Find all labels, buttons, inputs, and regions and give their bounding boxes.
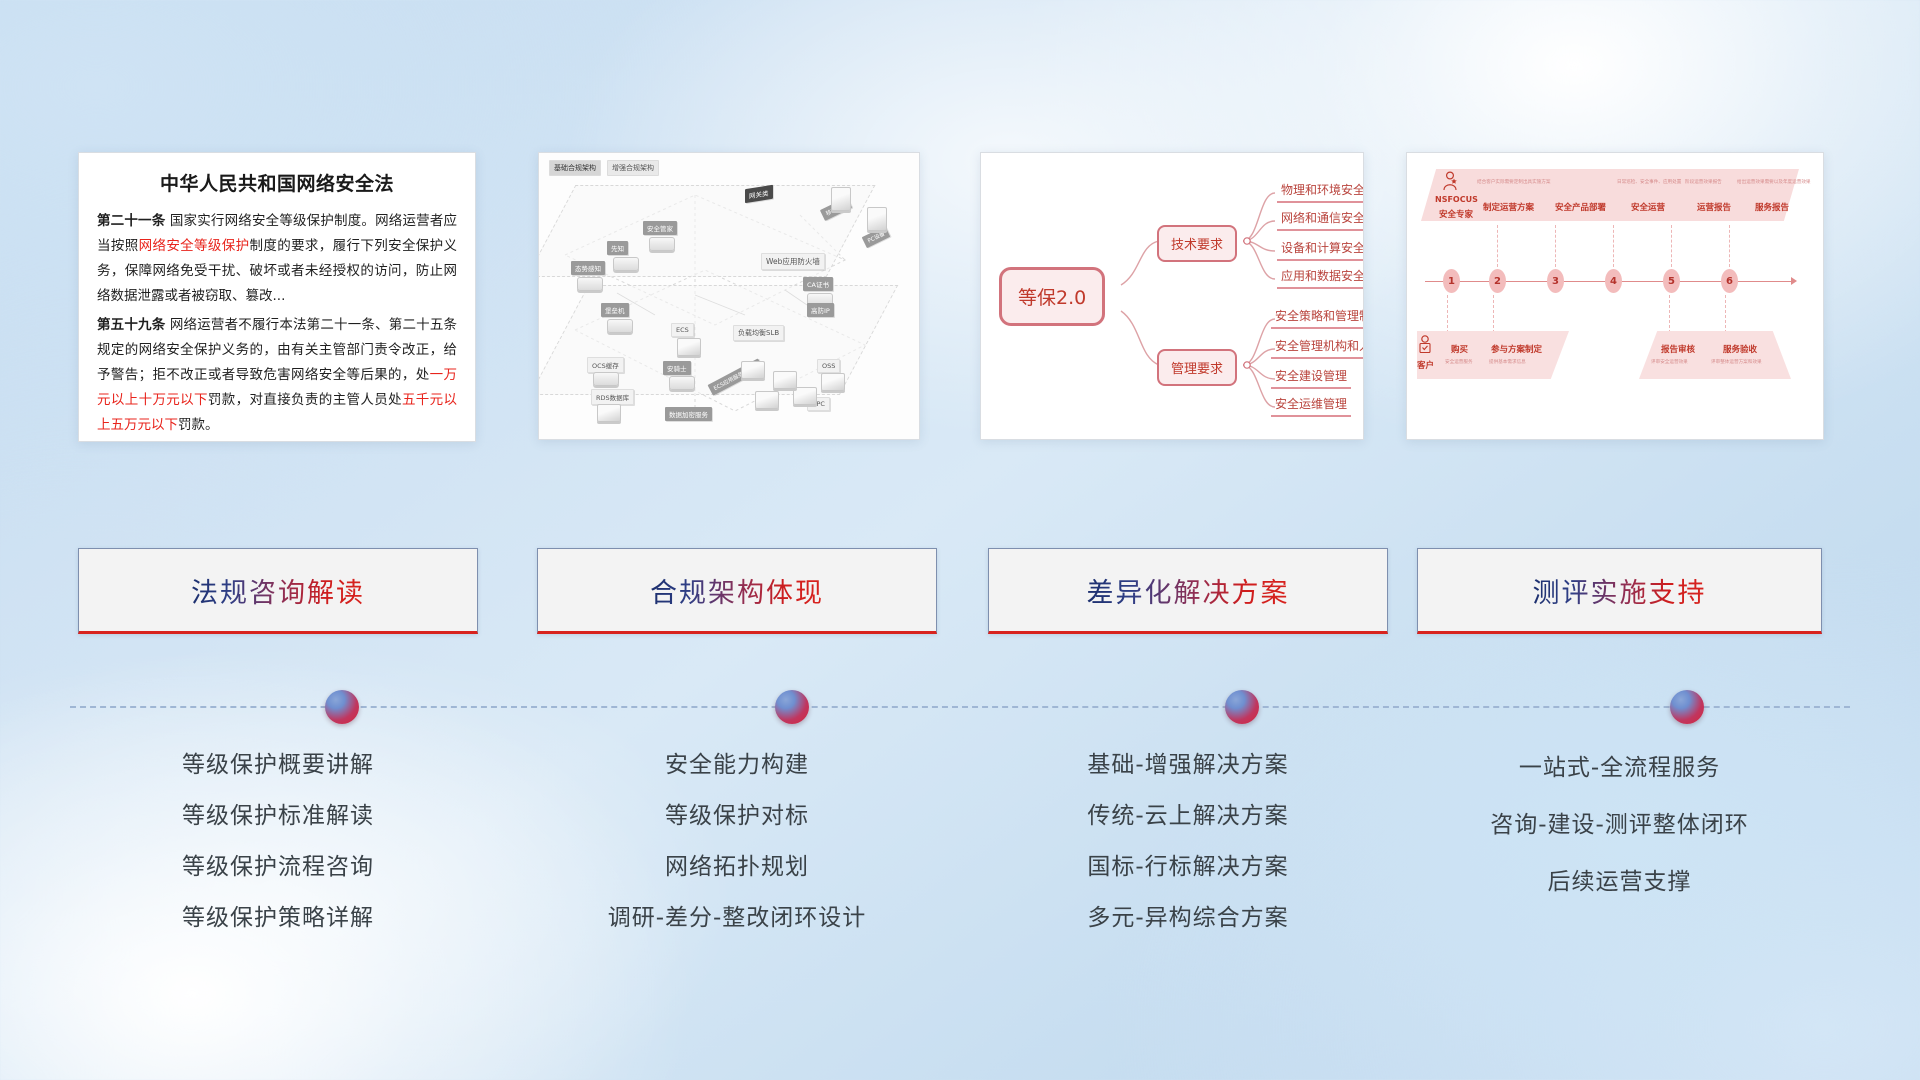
list-item: 调研-差分-整改闭环设计 xyxy=(537,893,937,944)
mindmap-leaf-physical-env: 物理和环境安全 xyxy=(1277,179,1364,203)
list-item: 基础-增强解决方案 xyxy=(988,740,1388,791)
expert-icon-svg xyxy=(1441,171,1459,191)
node-anqishi: 安骑士 xyxy=(663,361,691,375)
section-button-compliance-architecture[interactable]: 合规架构体现 xyxy=(537,548,937,634)
customer-action-2-sub: 提供基本需求信息 xyxy=(1489,359,1526,365)
list-item: 多元-异构综合方案 xyxy=(988,893,1388,944)
tick-cust-1 xyxy=(1447,295,1448,333)
architecture-canvas: 基础合规架构 增强合规架构 xyxy=(539,153,919,439)
list-differentiated-solution: 基础-增强解决方案 传统-云上解决方案 国标-行标解决方案 多元-异构综合方案 xyxy=(988,740,1388,944)
step-dot-5[interactable]: 5 xyxy=(1663,269,1680,293)
step-dot-1[interactable]: 1 xyxy=(1443,269,1460,293)
list-item: 网络拓扑规划 xyxy=(537,842,937,893)
customer-action-3-sub: 评审安全运营效果 xyxy=(1651,359,1688,365)
customer-label: 客户 xyxy=(1417,359,1434,371)
section-button-label: 法规咨询解读 xyxy=(191,571,365,610)
expert-label-line1: NSFOCUS xyxy=(1435,195,1478,204)
tick-cust-3 xyxy=(1669,295,1670,333)
node-situation-awareness: 态势感知 xyxy=(571,261,605,275)
list-regulation-consulting: 等级保护概要讲解 等级保护标准解读 等级保护流程咨询 等级保护策略详解 xyxy=(78,740,478,944)
list-item: 咨询-建设-测评整体闭环 xyxy=(1417,797,1822,854)
section-button-differentiated-solution[interactable]: 差异化解决方案 xyxy=(988,548,1388,634)
timeline-dot-3[interactable] xyxy=(1225,690,1259,724)
timeline-dot-2[interactable] xyxy=(775,690,809,724)
node-bastion-host: 堡垒机 xyxy=(601,303,629,317)
list-item: 一站式-全流程服务 xyxy=(1417,740,1822,797)
step4-main: 安全运营 xyxy=(1631,201,1665,213)
list-item: 等级保护流程咨询 xyxy=(78,842,478,893)
mindmap-canvas: 等保2.0 技术要求 管理要求 物理和环境安全 网络和通信安全 设备和计算安全 … xyxy=(981,153,1363,439)
customer-band-right xyxy=(1639,331,1791,379)
tick-step4 xyxy=(1613,225,1614,267)
step6-sub: 给出运营效果需要以及年度运营效果 xyxy=(1737,179,1811,185)
node-data-encryption: 数据加密服务 xyxy=(665,407,712,421)
timeline xyxy=(70,690,1850,724)
section-button-assessment-support[interactable]: 测评实施支持 xyxy=(1417,548,1822,634)
step3-main: 安全产品部署 xyxy=(1555,201,1606,213)
node-waf: Web应用防火墙 xyxy=(761,253,825,270)
card-nsfocus-timeline[interactable]: NSFOCUS 安全专家 结合客户实际需要定制出具实施方案 制定运营方案 安全产… xyxy=(1406,152,1824,440)
tick-step2 xyxy=(1497,225,1498,267)
node-slb: 负载均衡SLB xyxy=(733,325,784,341)
step6-main: 服务报告 xyxy=(1755,201,1789,213)
tick-cust-4 xyxy=(1725,295,1726,333)
node-rds: RDS数据库 xyxy=(591,389,634,405)
customer-action-1-sub: 安全运营服务 xyxy=(1445,359,1473,365)
tab-basic-compliance[interactable]: 基础合规架构 xyxy=(549,160,601,176)
section-button-label: 差异化解决方案 xyxy=(1087,571,1290,610)
law-article-59-text-b: 罚款，对直接负责的主管人员处 xyxy=(208,392,402,408)
node-ca-cert: CA证书 xyxy=(803,277,833,291)
mindmap-root-node[interactable]: 等保2.0 xyxy=(999,267,1105,326)
mindmap-branch-technical[interactable]: 技术要求 xyxy=(1157,225,1237,262)
tab-enhanced-compliance[interactable]: 增强合规架构 xyxy=(607,160,659,176)
tick-step6 xyxy=(1729,225,1730,267)
tick-step5 xyxy=(1671,225,1672,267)
list-item: 安全能力构建 xyxy=(537,740,937,791)
section-button-regulation-consulting[interactable]: 法规咨询解读 xyxy=(78,548,478,634)
node-anti-ddos-ip: 高防IP xyxy=(807,303,834,317)
section-button-label: 合规架构体现 xyxy=(650,571,824,610)
step-dot-2[interactable]: 2 xyxy=(1489,269,1506,293)
step2-main: 制定运营方案 xyxy=(1483,201,1534,213)
mindmap-leaf-device-compute: 设备和计算安全 xyxy=(1277,237,1364,261)
timeline-dot-1[interactable] xyxy=(325,690,359,724)
architecture-tabs: 基础合规架构 增强合规架构 xyxy=(549,160,659,176)
list-item: 等级保护概要讲解 xyxy=(78,740,478,791)
step5-main: 运营报告 xyxy=(1697,201,1731,213)
law-article-21-label: 第二十一条 xyxy=(97,213,165,229)
nsfocus-canvas: NSFOCUS 安全专家 结合客户实际需要定制出具实施方案 制定运营方案 安全产… xyxy=(1407,153,1823,439)
law-body: 中华人民共和国网络安全法 第二十一条 国家实行网络安全等级保护制度。网络运营者应… xyxy=(79,153,475,442)
step5-sub: 阶段运营效果报告 xyxy=(1685,179,1722,185)
customer-action-4-sub: 评审整体运营方案和效果 xyxy=(1711,359,1762,365)
timeline-dot-4[interactable] xyxy=(1670,690,1704,724)
customer-action-1-main: 购买 xyxy=(1451,343,1468,355)
node-xianzhi: 先知 xyxy=(607,241,628,255)
mindmap-leaf-ops-mgmt: 安全运维管理 xyxy=(1271,393,1351,417)
card-architecture-diagram[interactable]: 基础合规架构 增强合规架构 xyxy=(538,152,920,440)
law-article-59: 第五十九条 网络运营者不履行本法第二十一条、第二十五条规定的网络安全保护义务的，… xyxy=(97,313,457,438)
mindmap-branch-management[interactable]: 管理要求 xyxy=(1157,349,1237,386)
step-dot-3[interactable]: 3 xyxy=(1547,269,1564,293)
tick-cust-2 xyxy=(1493,295,1494,333)
architecture-nodes: 网关类 安全管家 先知 态势感知 堡垒机 ECS Web应用防火墙 负载均衡SL… xyxy=(545,175,913,433)
node-security-butler: 安全管家 xyxy=(643,221,677,235)
step-dot-6[interactable]: 6 xyxy=(1721,269,1738,293)
law-article-21: 第二十一条 国家实行网络安全等级保护制度。网络运营者应当按照网络安全等级保护制度… xyxy=(97,209,457,309)
cards-row: 中华人民共和国网络安全法 第二十一条 国家实行网络安全等级保护制度。网络运营者应… xyxy=(0,152,1920,452)
step-dot-4[interactable]: 4 xyxy=(1605,269,1622,293)
list-item: 后续运营支撑 xyxy=(1417,854,1822,911)
customer-band-left xyxy=(1417,331,1569,379)
step4-sub: 日常巡检、安全事件、应用处置 xyxy=(1617,179,1681,185)
mindmap-leaf-construction-mgmt: 安全建设管理 xyxy=(1271,365,1351,389)
law-article-59-text-c: 罚款。 xyxy=(178,417,219,433)
section-button-label: 测评实施支持 xyxy=(1533,571,1707,610)
customer-icon-svg xyxy=(1417,335,1433,355)
customer-action-4-main: 服务验收 xyxy=(1723,343,1757,355)
node-ecs: ECS xyxy=(671,323,694,337)
tick-step3 xyxy=(1555,225,1556,267)
customer-action-3-main: 报告审核 xyxy=(1661,343,1695,355)
card-mindmap[interactable]: 等保2.0 技术要求 管理要求 物理和环境安全 网络和通信安全 设备和计算安全 … xyxy=(980,152,1364,440)
list-assessment-support: 一站式-全流程服务 咨询-建设-测评整体闭环 后续运营支撑 xyxy=(1417,740,1822,911)
mindmap-leaf-org-personnel: 安全管理机构和人员 xyxy=(1271,335,1364,359)
law-title: 中华人民共和国网络安全法 xyxy=(97,169,457,196)
law-article-21-highlight: 网络安全等级保护 xyxy=(139,238,250,254)
expert-label-line2: 安全专家 xyxy=(1439,208,1473,220)
mindmap-leaf-app-data: 应用和数据安全 xyxy=(1277,265,1364,289)
node-ocs-cache: OCS缓存 xyxy=(587,357,624,373)
section-buttons-row: 法规咨询解读 合规架构体现 差异化解决方案 测评实施支持 xyxy=(0,548,1920,638)
mindmap-leaf-policy-system: 安全策略和管理制度 xyxy=(1271,305,1364,329)
nsfocus-axis-arrow xyxy=(1791,277,1797,285)
list-item: 传统-云上解决方案 xyxy=(988,791,1388,842)
mindmap-leaf-network-comm: 网络和通信安全 xyxy=(1277,207,1364,231)
node-oss: OSS xyxy=(817,359,840,373)
list-item: 国标-行标解决方案 xyxy=(988,842,1388,893)
list-item: 等级保护对标 xyxy=(537,791,937,842)
card-law-document[interactable]: 中华人民共和国网络安全法 第二十一条 国家实行网络安全等级保护制度。网络运营者应… xyxy=(78,152,476,442)
customer-action-2-main: 参与方案制定 xyxy=(1491,343,1542,355)
list-item: 等级保护标准解读 xyxy=(78,791,478,842)
step2-sub: 结合客户实际需要定制出具实施方案 xyxy=(1477,179,1551,185)
law-article-59-label: 第五十九条 xyxy=(97,317,165,333)
expert-person-icon xyxy=(1441,171,1459,195)
list-item: 等级保护策略详解 xyxy=(78,893,478,944)
customer-person-icon xyxy=(1417,335,1433,359)
list-compliance-architecture: 安全能力构建 等级保护对标 网络拓扑规划 调研-差分-整改闭环设计 xyxy=(537,740,937,944)
